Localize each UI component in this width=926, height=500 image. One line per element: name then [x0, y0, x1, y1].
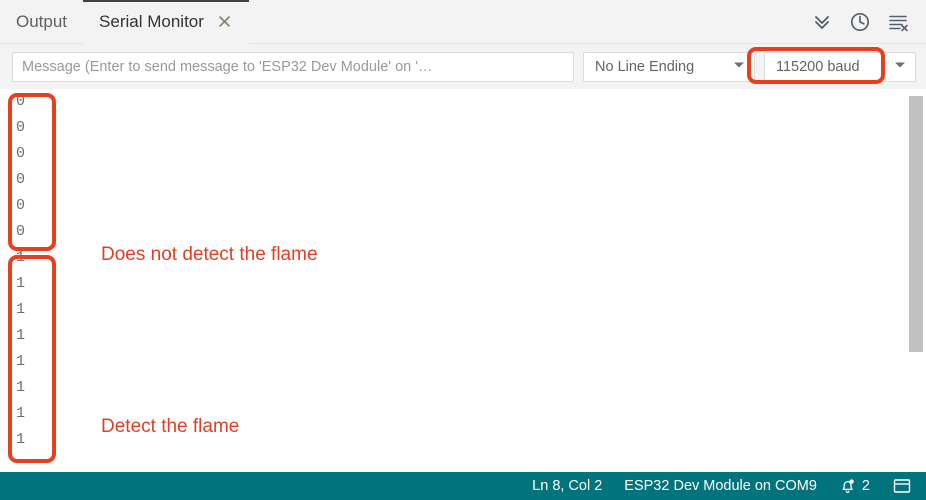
tab-bar: Output Serial Monitor: [0, 0, 926, 44]
close-icon[interactable]: [217, 14, 233, 30]
status-board-port[interactable]: ESP32 Dev Module on COM9: [624, 478, 817, 494]
console-line: 1: [16, 297, 25, 323]
message-input[interactable]: [12, 52, 574, 82]
console-line: 1: [16, 375, 25, 401]
console-line: 0: [16, 167, 25, 193]
line-ending-select[interactable]: No Line Ending: [583, 52, 755, 82]
serial-output-console[interactable]: 00000011111111 Does not detect the flame…: [0, 89, 926, 472]
console-line: 0: [16, 115, 25, 141]
console-line: 1: [16, 401, 25, 427]
console-line: 0: [16, 89, 25, 115]
tab-serial-monitor[interactable]: Serial Monitor: [83, 0, 249, 44]
status-cursor-position[interactable]: Ln 8, Col 2: [532, 478, 602, 494]
line-ending-value: No Line Ending: [595, 59, 694, 75]
annotation-flame: Detect the flame: [101, 416, 239, 438]
chevron-down-icon: [733, 61, 745, 72]
tab-output-label: Output: [16, 12, 67, 32]
console-line: 1: [16, 245, 25, 271]
baud-rate-select[interactable]: 115200 baud: [764, 52, 916, 82]
console-line: 1: [16, 271, 25, 297]
status-panel-toggle[interactable]: [892, 477, 912, 495]
console-line: 1: [16, 427, 25, 453]
scroll-to-bottom-icon[interactable]: [810, 10, 834, 34]
console-line: 0: [16, 141, 25, 167]
panel-layout-icon: [892, 477, 912, 495]
chevron-down-icon: [894, 61, 906, 72]
notification-count: 2: [862, 478, 870, 494]
annotation-no-flame: Does not detect the flame: [101, 244, 318, 266]
tab-bar-actions: [810, 10, 926, 34]
baud-rate-value: 115200 baud: [776, 59, 860, 75]
console-line: 0: [16, 219, 25, 245]
console-line: 1: [16, 323, 25, 349]
tab-output[interactable]: Output: [0, 0, 83, 44]
serial-monitor-toolbar: No Line Ending 115200 baud: [0, 44, 926, 89]
tab-serial-monitor-label: Serial Monitor: [99, 12, 204, 32]
status-notifications[interactable]: 2: [839, 477, 870, 495]
bell-icon: [839, 477, 857, 495]
console-line: 0: [16, 193, 25, 219]
clock-icon[interactable]: [848, 10, 872, 34]
console-line: 1: [16, 349, 25, 375]
status-bar: Ln 8, Col 2 ESP32 Dev Module on COM9 2: [0, 472, 926, 500]
clear-output-icon[interactable]: [886, 10, 910, 34]
console-scrollbar-thumb[interactable]: [909, 96, 923, 352]
console-line-list: 00000011111111: [16, 89, 25, 453]
console-scrollbar[interactable]: [904, 89, 926, 472]
